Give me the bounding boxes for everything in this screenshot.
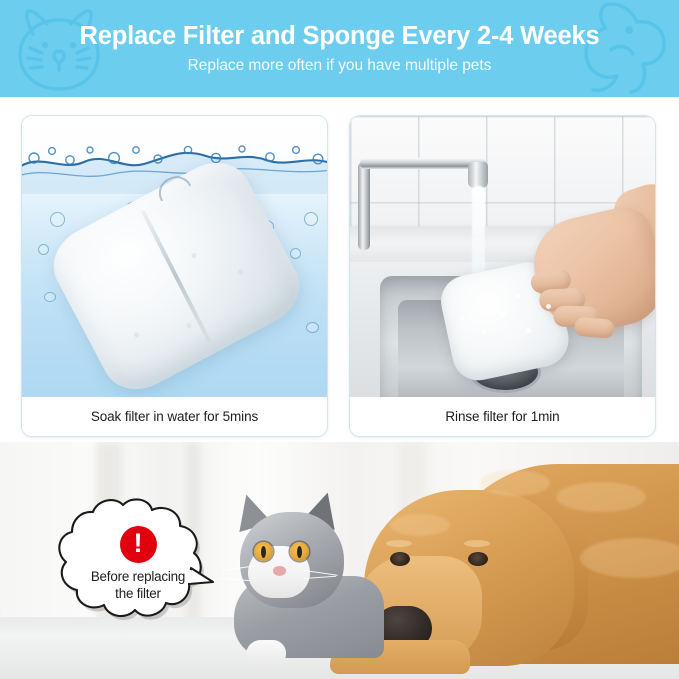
step-card-rinse: Rinse filter for 1min bbox=[349, 115, 656, 437]
exclamation-circle-icon: ! bbox=[120, 526, 157, 563]
steps-row: Soak filter in water for 5mins bbox=[0, 97, 679, 442]
header-subtitle: Replace more often if you have multiple … bbox=[188, 57, 492, 74]
header-banner: Replace Filter and Sponge Every 2-4 Week… bbox=[0, 0, 679, 97]
step-caption-rinse: Rinse filter for 1min bbox=[350, 397, 655, 436]
header-title: Replace Filter and Sponge Every 2-4 Week… bbox=[80, 23, 600, 50]
filter-in-water-photo bbox=[22, 116, 327, 397]
filter-rinsing-photo bbox=[350, 116, 655, 397]
step-card-soak: Soak filter in water for 5mins bbox=[21, 115, 328, 437]
product-infographic: Replace Filter and Sponge Every 2-4 Week… bbox=[0, 0, 679, 679]
cat-graphic bbox=[228, 490, 376, 650]
callout-line-1: Before replacing bbox=[91, 569, 185, 585]
exclamation-glyph: ! bbox=[134, 530, 143, 557]
step-caption-soak: Soak filter in water for 5mins bbox=[22, 397, 327, 436]
callout-bubble: ! Before replacing the filter bbox=[53, 496, 223, 630]
callout-text: Before replacing the filter bbox=[91, 569, 185, 602]
callout-line-2: the filter bbox=[91, 586, 185, 602]
